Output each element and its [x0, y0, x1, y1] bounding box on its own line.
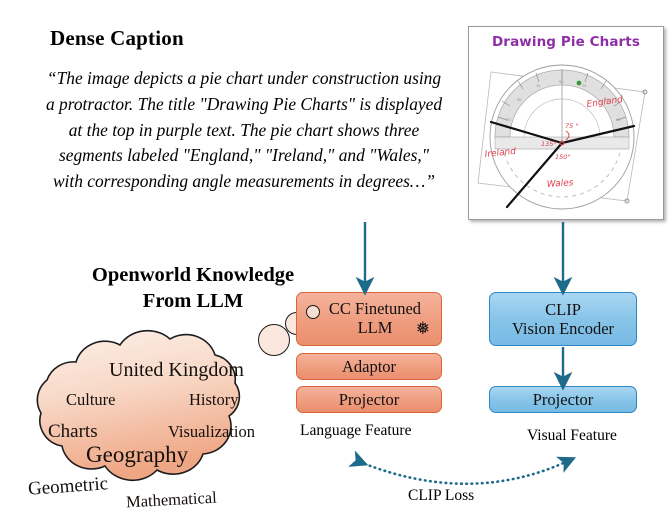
language-projector-box[interactable]: Projector	[296, 386, 442, 413]
visual-feature-label: Visual Feature	[527, 427, 617, 445]
clip-loss-arc	[360, 461, 568, 484]
svg-text:Wales: Wales	[547, 178, 575, 190]
clip-loss-label: CLIP Loss	[408, 487, 474, 505]
llm-box-line2: LLM	[329, 318, 421, 337]
language-feature-label: Language Feature	[300, 422, 411, 440]
svg-text:20: 20	[506, 118, 511, 122]
openworld-heading-line2: From LLM	[68, 288, 318, 314]
openworld-heading-line1: Openworld Knowledge	[68, 262, 318, 288]
svg-text:10: 10	[536, 84, 541, 88]
snowflake-icon: ❅	[416, 320, 430, 337]
cloud-word-charts: Charts	[48, 421, 98, 443]
cloud-word-geometric: Geometric	[27, 473, 109, 501]
svg-text:60: 60	[616, 118, 621, 122]
cloud-word-united-kingdom: United Kingdom	[109, 359, 244, 382]
figure-root: Dense Caption “The image depicts a pie c…	[0, 0, 670, 528]
clip-box-line1: CLIP	[512, 300, 614, 319]
svg-text:70: 70	[582, 84, 587, 88]
cloud-word-culture: Culture	[66, 390, 116, 410]
llm-box-label: CC Finetuned LLM	[329, 299, 421, 338]
svg-text:30: 30	[517, 98, 522, 102]
llm-box-line1: CC Finetuned	[329, 299, 421, 318]
vision-projector-box[interactable]: Projector	[489, 386, 637, 413]
adaptor-box[interactable]: Adaptor	[296, 353, 442, 380]
thought-bubble-large	[258, 324, 290, 356]
dense-caption-heading: Dense Caption	[50, 26, 184, 51]
cloud-word-mathematical: Mathematical	[126, 488, 218, 513]
cc-finetuned-llm-box[interactable]: CC Finetuned LLM ❅	[296, 292, 442, 346]
clip-vision-encoder-box[interactable]: CLIP Vision Encoder	[489, 292, 637, 346]
cloud-word-history: History	[189, 390, 239, 410]
clip-box-line2: Vision Encoder	[512, 319, 614, 338]
cloud-word-visualization: Visualization	[168, 422, 255, 442]
svg-text:75 °: 75 °	[565, 122, 579, 130]
dense-caption-body: “The image depicts a pie chart under con…	[44, 66, 444, 195]
cloud-word-geography: Geography	[86, 442, 188, 468]
pie-chart-drawing: 9010 7030 5020 60 England Ireland Wales …	[469, 49, 663, 219]
openworld-knowledge-heading: Openworld Knowledge From LLM	[68, 262, 318, 314]
clip-box-label: CLIP Vision Encoder	[512, 300, 614, 339]
pie-chart-title: Drawing Pie Charts	[469, 34, 663, 50]
pie-chart-thumbnail: Drawing Pie Charts	[468, 26, 664, 220]
thought-bubble-small	[306, 305, 320, 319]
svg-text:135°: 135°	[541, 140, 557, 148]
svg-text:150°: 150°	[555, 153, 571, 161]
